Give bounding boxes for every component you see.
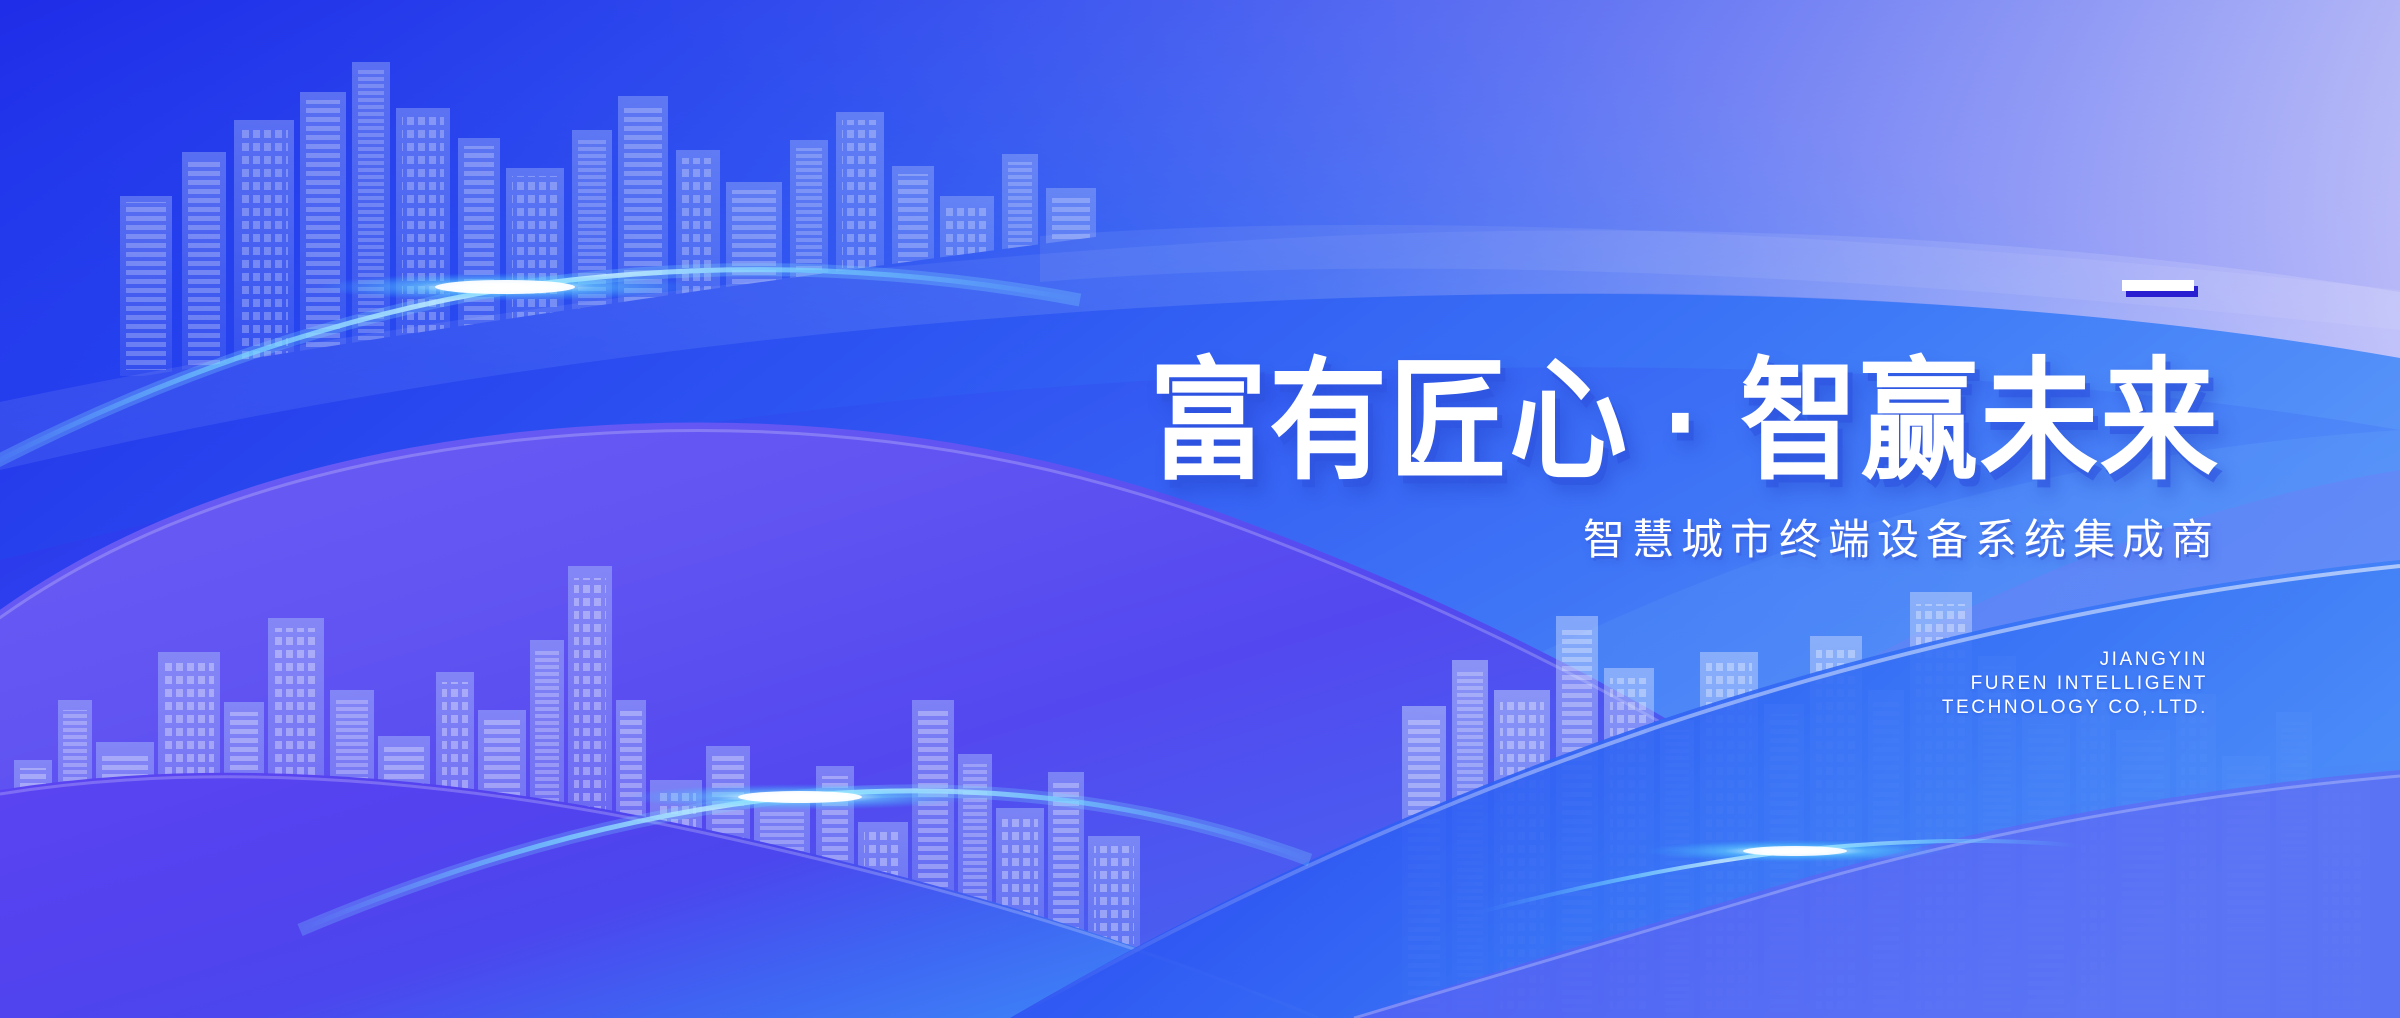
company-line-1: JIANGYIN: [1760, 648, 2208, 672]
company-name-english: JIANGYIN FUREN INTELLIGENT TECHNOLOGY CO…: [1760, 648, 2208, 720]
company-line-2: FUREN INTELLIGENT: [1760, 672, 2208, 696]
banner-subtitle: 智慧城市终端设备系统集成商: [1300, 513, 2220, 567]
banner-main-title: 富有匠心 · 智赢未来: [1064, 356, 2220, 488]
accent-dash-decor: [2122, 280, 2194, 291]
banner-background: [0, 0, 2400, 1018]
company-line-3: TECHNOLOGY CO,.LTD.: [1760, 696, 2208, 720]
company-banner: 富有匠心 · 智赢未来 智慧城市终端设备系统集成商 JIANGYIN FUREN…: [0, 0, 2400, 1018]
